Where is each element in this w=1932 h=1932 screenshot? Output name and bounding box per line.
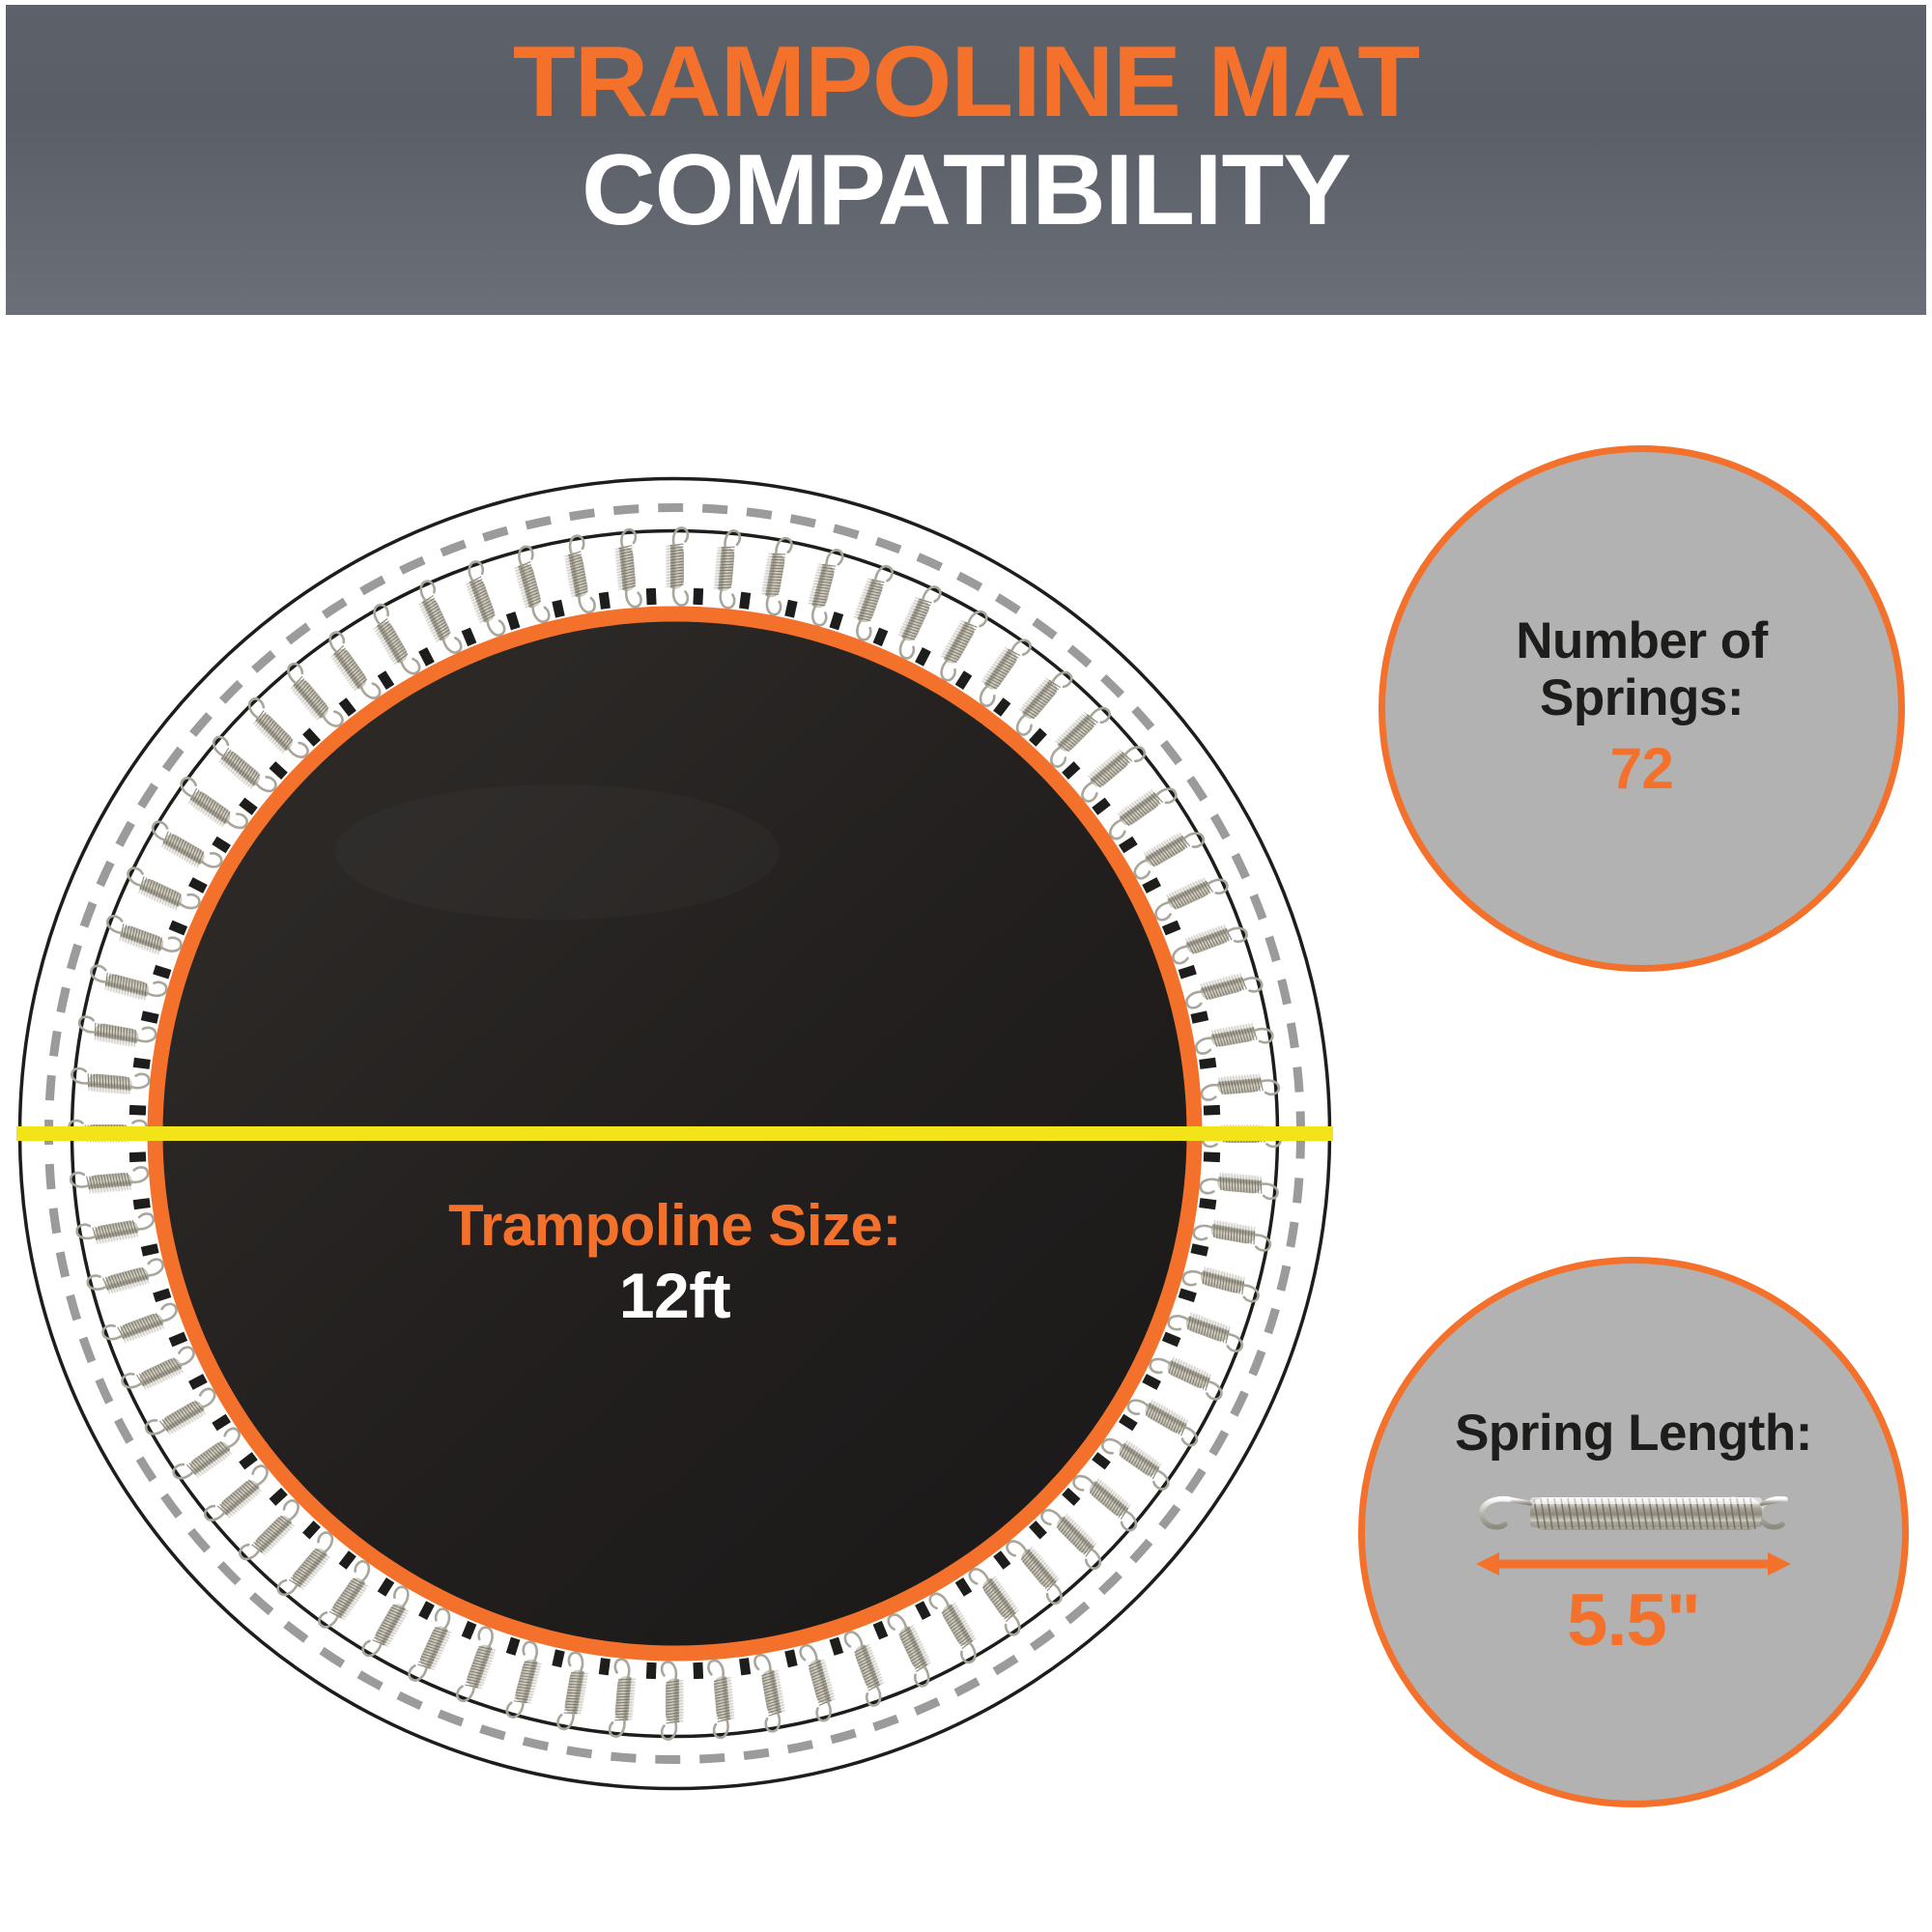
number-of-springs-circle: Number of Springs: 72 bbox=[1378, 445, 1905, 972]
mat-tab bbox=[129, 1151, 146, 1162]
mat-tab bbox=[1204, 1105, 1220, 1116]
trampoline-diagram: Trampoline Size: 12ft bbox=[16, 475, 1333, 1792]
mat-tab bbox=[646, 1662, 657, 1679]
mat-highlight bbox=[335, 784, 780, 920]
mat-tab bbox=[693, 588, 703, 605]
springs-title-line2: Springs: bbox=[1540, 669, 1744, 726]
spring-length-value: 5.5" bbox=[1567, 1582, 1700, 1660]
mat-tab bbox=[646, 588, 657, 605]
spring-length-circle: Spring Length: bbox=[1358, 1257, 1909, 1807]
header-banner: TRAMPOLINE MAT COMPATIBILITY bbox=[0, 0, 1932, 315]
springs-title-line1: Number of bbox=[1516, 612, 1768, 669]
mat-tab bbox=[129, 1105, 146, 1116]
mat-tab bbox=[693, 1662, 703, 1679]
page-title-line1: TRAMPOLINE MAT bbox=[0, 32, 1932, 132]
springs-count-value: 72 bbox=[1610, 732, 1674, 805]
spring-image bbox=[1474, 1482, 1793, 1544]
page-title-line2: COMPATIBILITY bbox=[0, 140, 1932, 241]
trampoline-illustration bbox=[16, 475, 1333, 1792]
mat-tab bbox=[1204, 1151, 1220, 1162]
spring-length-arrow bbox=[1474, 1548, 1793, 1580]
spring-photo bbox=[1474, 1482, 1793, 1544]
spring-length-title: Spring Length: bbox=[1455, 1405, 1812, 1462]
double-arrow-icon bbox=[1474, 1548, 1793, 1580]
